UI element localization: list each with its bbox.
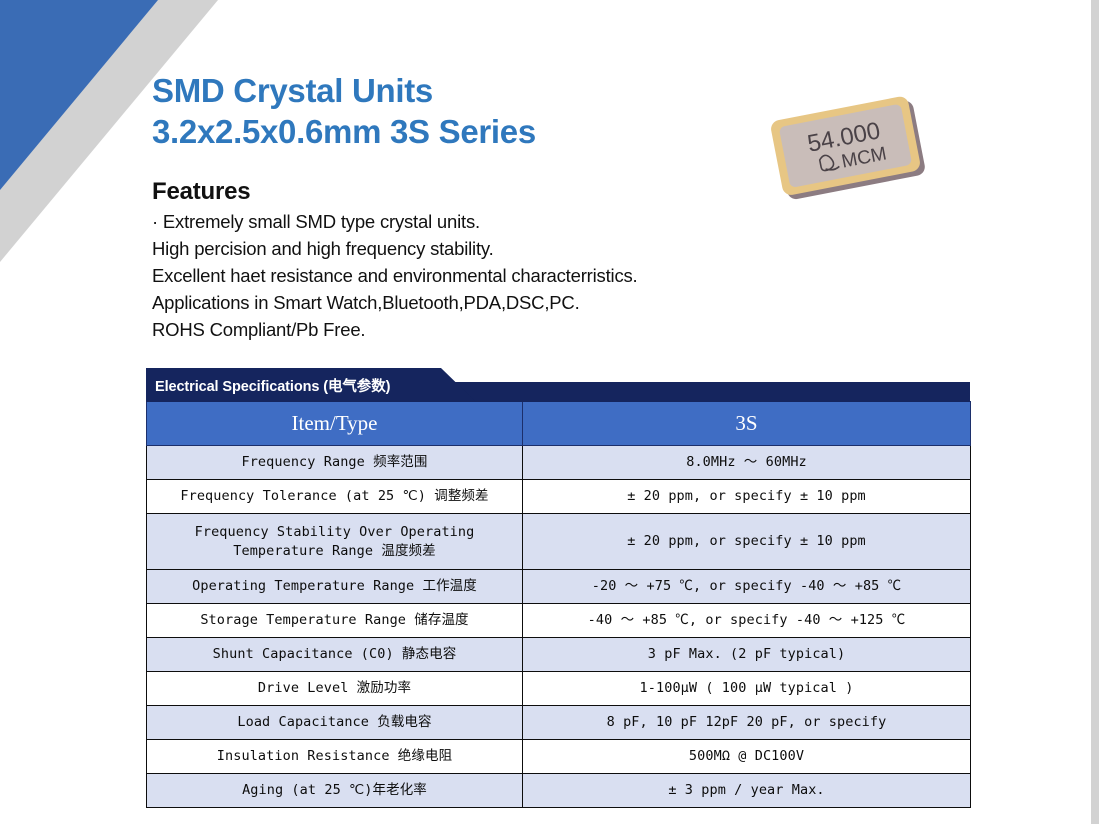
table-row: Drive Level 激励功率 1-100μW ( 100 μW typica… — [147, 672, 971, 706]
row-value: 500MΩ @ DC100V — [523, 740, 971, 774]
row-item: Frequency Range 频率范围 — [147, 446, 523, 480]
row-item: Operating Temperature Range 工作温度 — [147, 570, 523, 604]
row-item-line: Temperature Range 温度频差 — [153, 542, 516, 561]
table-row: Frequency Stability Over Operating Tempe… — [147, 514, 971, 570]
row-item: Shunt Capacitance (C0) 静态电容 — [147, 638, 523, 672]
feature-item: Applications in Smart Watch,Bluetooth,PD… — [152, 289, 638, 316]
spec-section-tab: Electrical Specifications (电气参数) — [146, 368, 970, 402]
spec-tab-label-cn: (电气参数) — [323, 379, 390, 395]
row-value: -40 ～ +85 ℃, or specify -40 ～ +125 ℃ — [523, 604, 971, 638]
table-header-row: Item/Type 3S — [147, 402, 971, 446]
page-title: SMD Crystal Units 3.2x2.5x0.6mm 3S Serie… — [152, 70, 536, 152]
feature-item: ROHS Compliant/Pb Free. — [152, 316, 638, 343]
spec-tab-label: Electrical Specifications (电气参数) — [155, 375, 390, 396]
row-item: Load Capacitance 负载电容 — [147, 706, 523, 740]
table-row: Frequency Tolerance (at 25 ℃) 调整频差 ± 20 … — [147, 480, 971, 514]
row-item: Drive Level 激励功率 — [147, 672, 523, 706]
column-header-type: 3S — [523, 402, 971, 446]
feature-item: High percision and high frequency stabil… — [152, 235, 638, 262]
row-item: Aging (at 25 ℃)年老化率 — [147, 774, 523, 808]
right-edge-white — [1071, 0, 1091, 824]
electrical-specifications-table: Item/Type 3S Frequency Range 频率范围 8.0MHz… — [146, 401, 971, 808]
table-row: Load Capacitance 负载电容 8 pF, 10 pF 12pF 2… — [147, 706, 971, 740]
spec-tab-label-en: Electrical Specifications — [155, 379, 319, 395]
row-value: 8.0MHz ～ 60MHz — [523, 446, 971, 480]
row-item: Frequency Tolerance (at 25 ℃) 调整频差 — [147, 480, 523, 514]
row-item-line: Frequency Stability Over Operating — [153, 523, 516, 542]
table-row: Shunt Capacitance (C0) 静态电容 3 pF Max. (2… — [147, 638, 971, 672]
features-heading: Features — [152, 178, 250, 206]
table-row: Storage Temperature Range 储存温度 -40 ～ +85… — [147, 604, 971, 638]
table-row: Aging (at 25 ℃)年老化率 ± 3 ppm / year Max. — [147, 774, 971, 808]
features-list: · Extremely small SMD type crystal units… — [152, 208, 638, 343]
row-value: -20 ～ +75 ℃, or specify -40 ～ +85 ℃ — [523, 570, 971, 604]
row-item: Storage Temperature Range 储存温度 — [147, 604, 523, 638]
feature-item: Excellent haet resistance and environmen… — [152, 262, 638, 289]
crystal-package-photo: 54.000 MCM — [766, 96, 934, 200]
column-header-item: Item/Type — [147, 402, 523, 446]
row-value: 3 pF Max. (2 pF typical) — [523, 638, 971, 672]
row-value: 8 pF, 10 pF 12pF 20 pF, or specify — [523, 706, 971, 740]
row-value: 1-100μW ( 100 μW typical ) — [523, 672, 971, 706]
table-row: Frequency Range 频率范围 8.0MHz ～ 60MHz — [147, 446, 971, 480]
right-edge-gray — [1091, 0, 1099, 824]
row-item: Insulation Resistance 绝缘电阻 — [147, 740, 523, 774]
datasheet-page: SMD Crystal Units 3.2x2.5x0.6mm 3S Serie… — [0, 0, 1099, 824]
title-line-2: 3.2x2.5x0.6mm 3S Series — [152, 111, 536, 152]
row-item: Frequency Stability Over Operating Tempe… — [147, 514, 523, 570]
table-row: Insulation Resistance 绝缘电阻 500MΩ @ DC100… — [147, 740, 971, 774]
row-value: ± 20 ppm, or specify ± 10 ppm — [523, 514, 971, 570]
feature-item: · Extremely small SMD type crystal units… — [152, 208, 638, 235]
row-value: ± 20 ppm, or specify ± 10 ppm — [523, 480, 971, 514]
title-line-1: SMD Crystal Units — [152, 70, 536, 111]
table-row: Operating Temperature Range 工作温度 -20 ～ +… — [147, 570, 971, 604]
row-value: ± 3 ppm / year Max. — [523, 774, 971, 808]
